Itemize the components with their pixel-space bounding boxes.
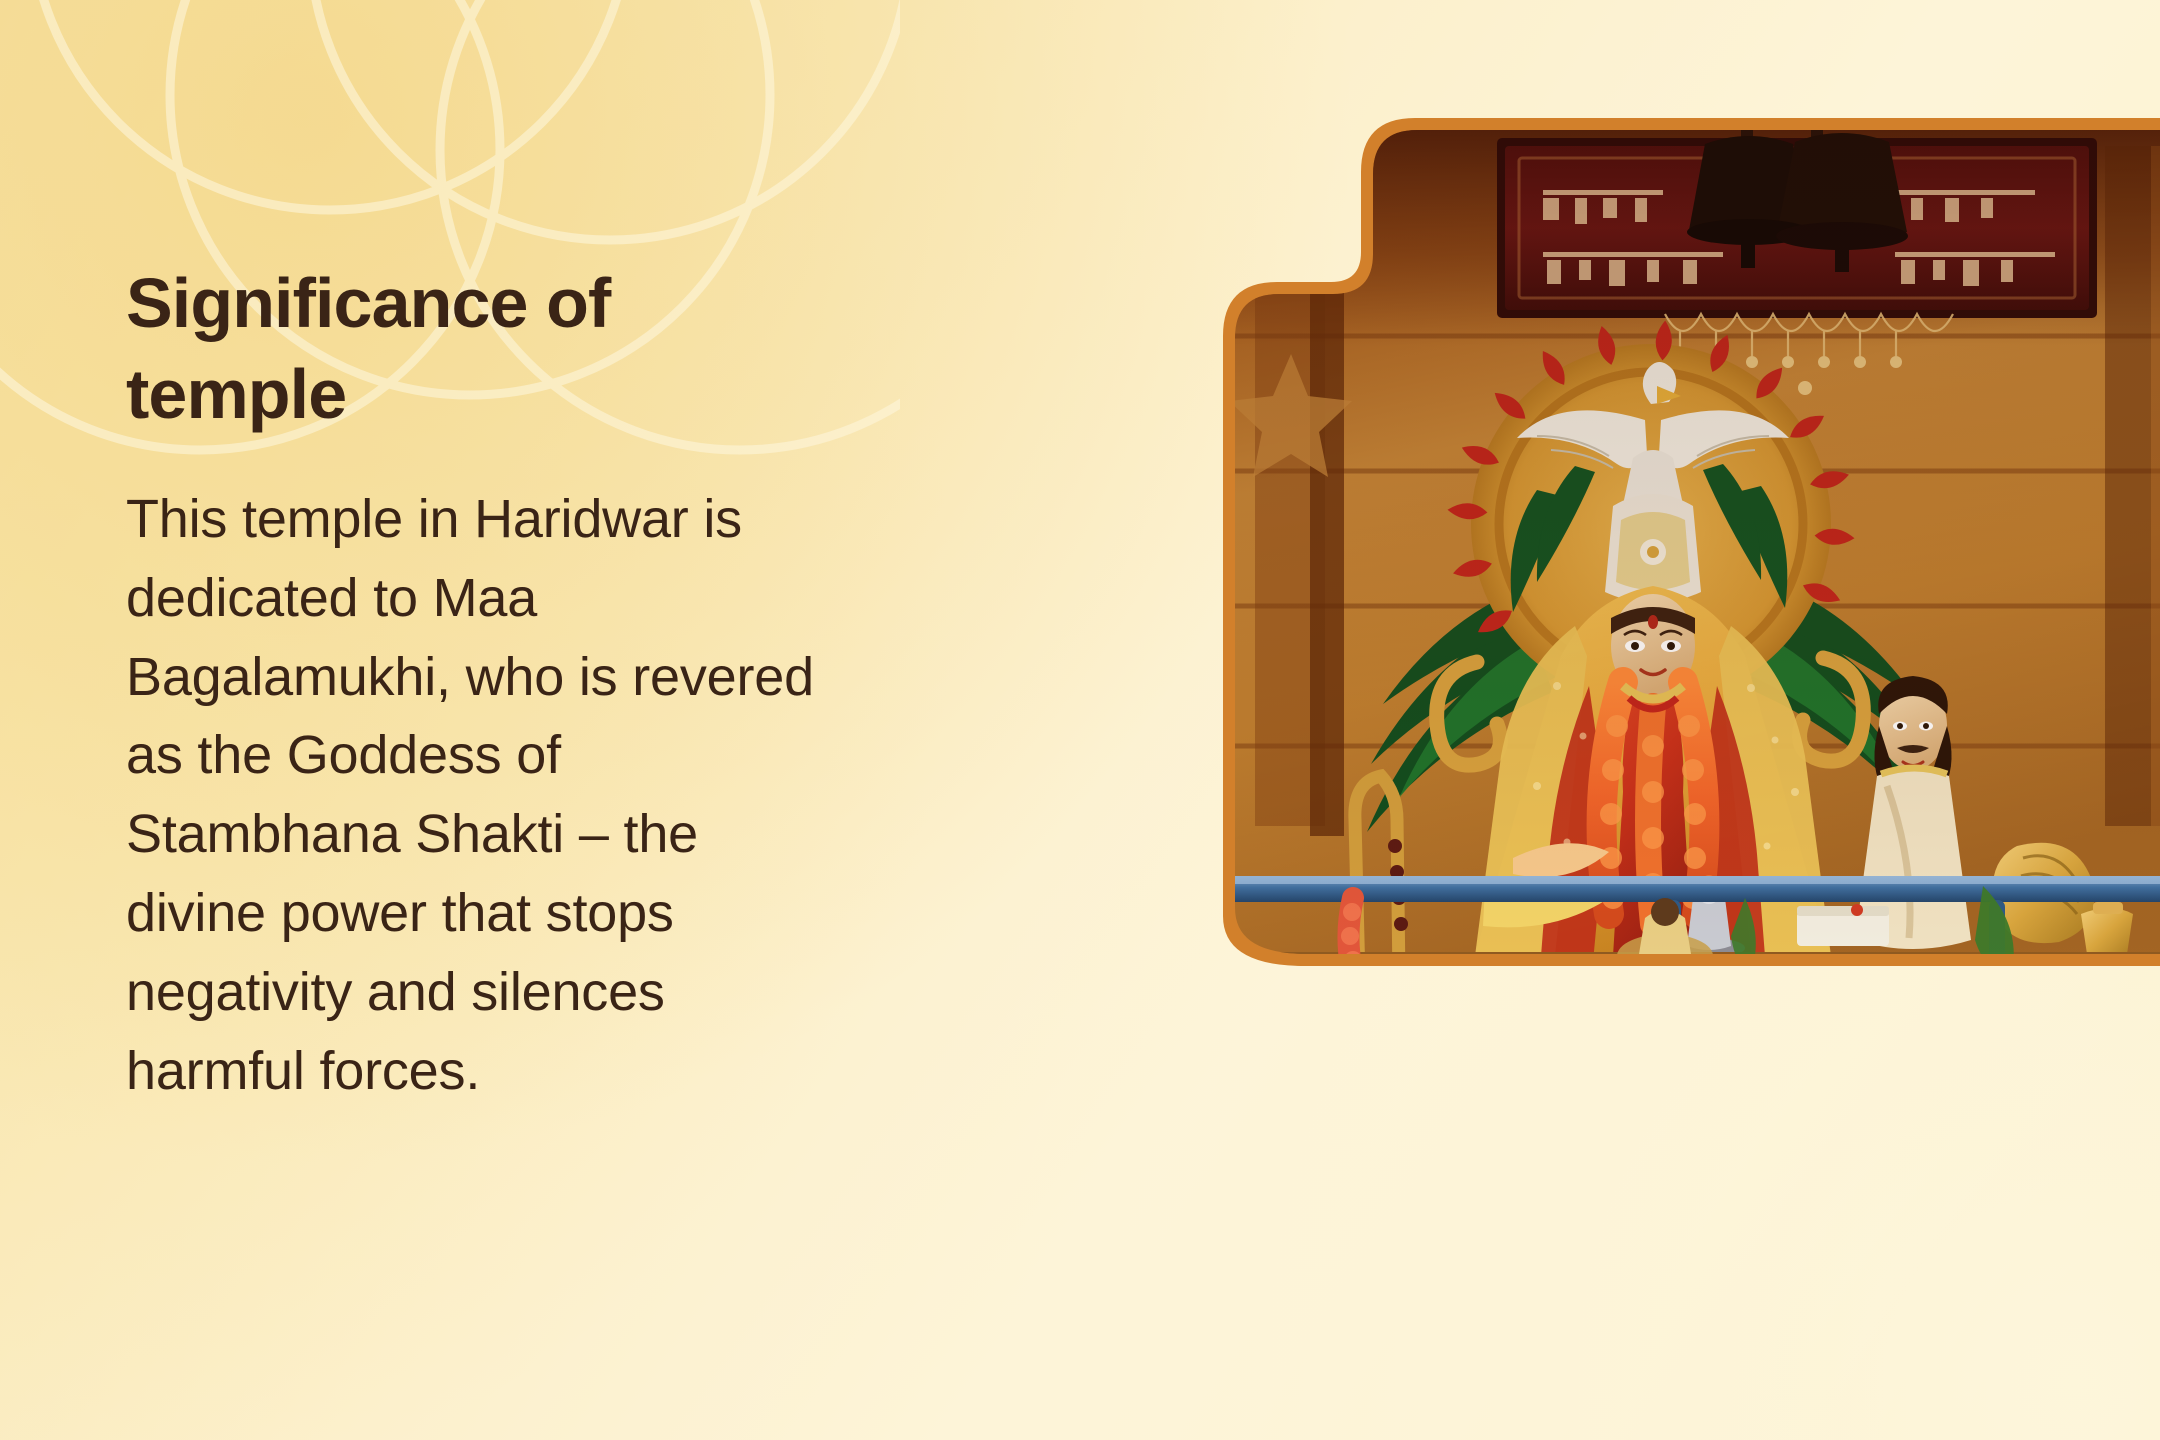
body-paragraph: This temple in Haridwar is dedicated to … (126, 480, 826, 1111)
text-column: Significance of temple This temple in Ha… (126, 258, 826, 1111)
temple-photo-card (1105, 86, 2160, 966)
page-title: Significance of temple (126, 258, 766, 440)
temple-photo (1105, 86, 2160, 966)
